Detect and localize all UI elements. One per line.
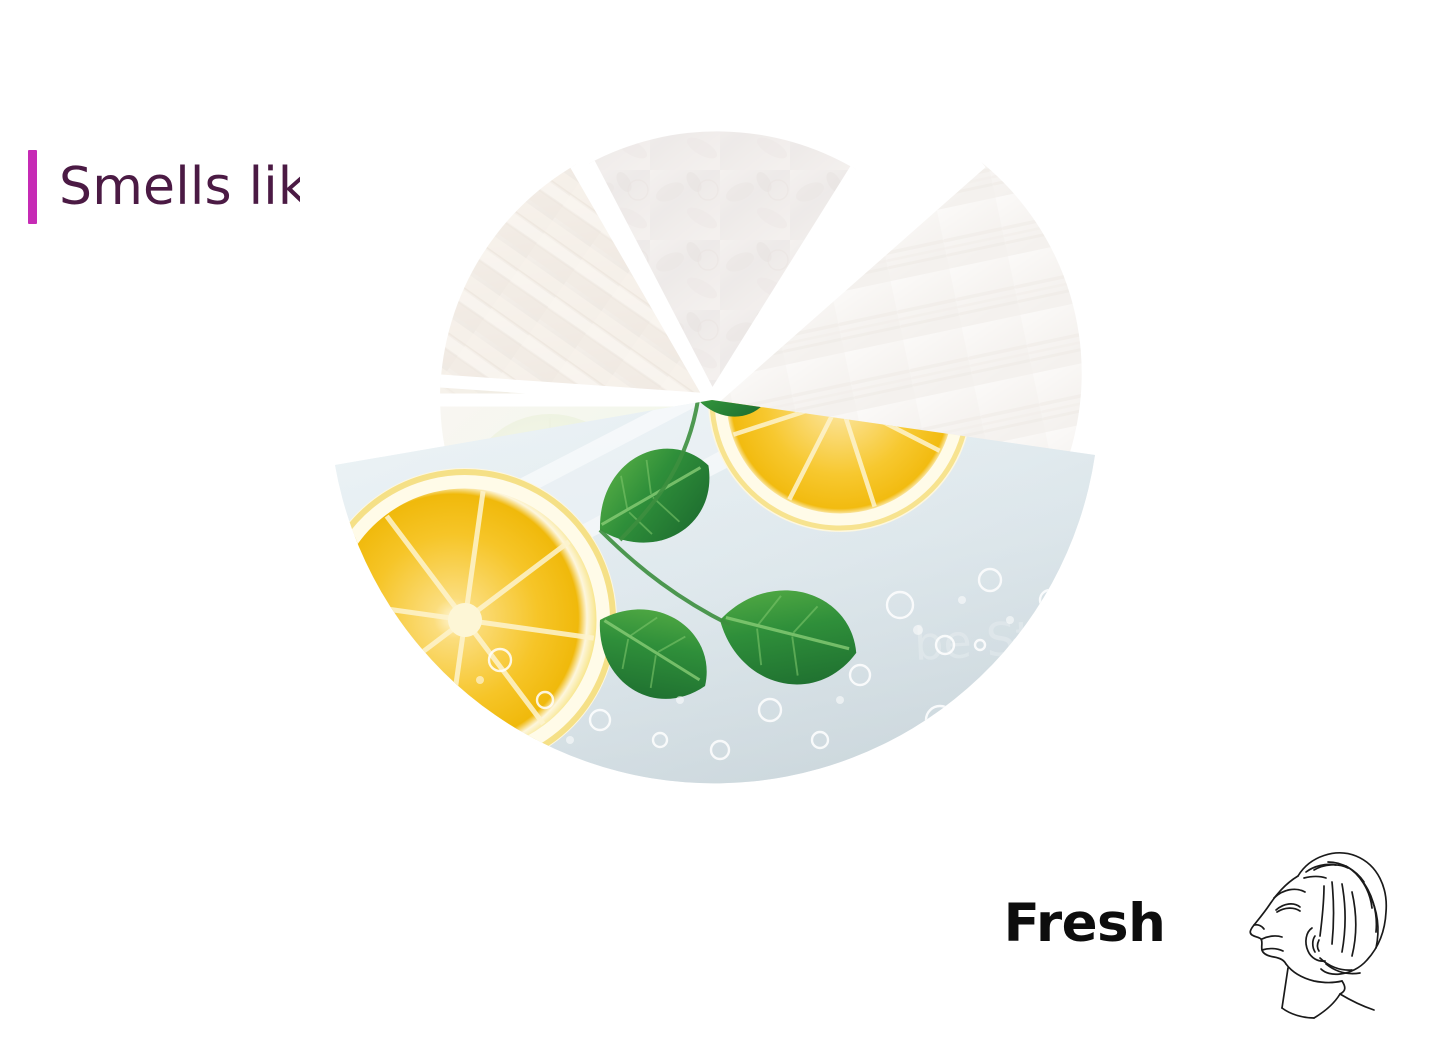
smells-like-pie-chart: be St xyxy=(300,100,1130,890)
page-title: Smells like xyxy=(59,160,339,215)
face-profile-illustration xyxy=(1228,832,1428,1032)
heading-accent-bar xyxy=(28,150,37,224)
pie-chart-svg: be St xyxy=(300,100,1130,890)
face-profile-icon xyxy=(1228,832,1428,1032)
page-heading: Smells like xyxy=(28,150,339,224)
highlighted-category-label: Fresh xyxy=(1004,893,1166,954)
